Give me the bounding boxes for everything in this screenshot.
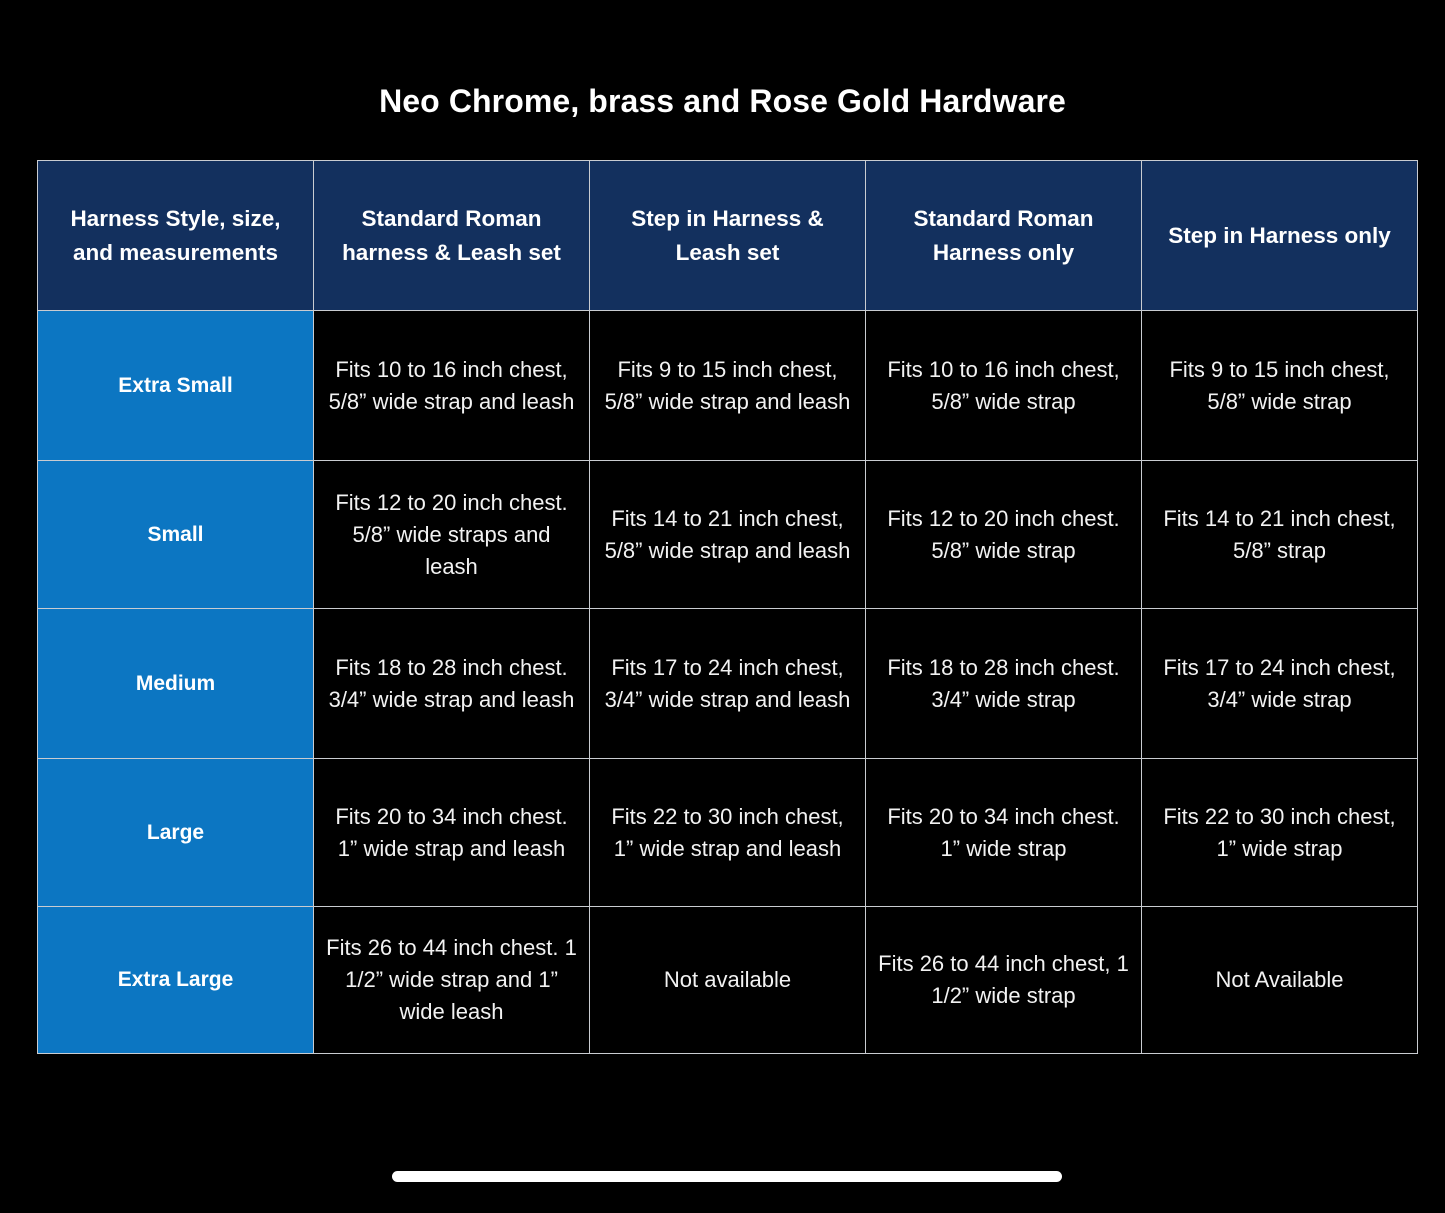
- cell-medium-stepin-set: Fits 17 to 24 inch chest, 3/4” wide stra…: [590, 609, 866, 759]
- cell-small-stepin-set: Fits 14 to 21 inch chest, 5/8” wide stra…: [590, 461, 866, 609]
- size-label-extra-large: Extra Large: [38, 907, 314, 1054]
- column-header-roman-only: Standard Roman Harness only: [866, 161, 1142, 311]
- cell-large-roman-only: Fits 20 to 34 inch chest. 1” wide strap: [866, 759, 1142, 907]
- cell-extra-large-stepin-set: Not available: [590, 907, 866, 1054]
- column-header-stepin-set: Step in Harness & Leash set: [590, 161, 866, 311]
- cell-large-roman-set: Fits 20 to 34 inch chest. 1” wide strap …: [314, 759, 590, 907]
- column-header-size: Harness Style, size, and measurements: [38, 161, 314, 311]
- cell-extra-large-stepin-only: Not Available: [1142, 907, 1418, 1054]
- cell-extra-small-stepin-only: Fits 9 to 15 inch chest, 5/8” wide strap: [1142, 311, 1418, 461]
- cell-extra-small-stepin-set: Fits 9 to 15 inch chest, 5/8” wide strap…: [590, 311, 866, 461]
- cell-extra-small-roman-set: Fits 10 to 16 inch chest, 5/8” wide stra…: [314, 311, 590, 461]
- cell-small-stepin-only: Fits 14 to 21 inch chest, 5/8” strap: [1142, 461, 1418, 609]
- table-row: Small Fits 12 to 20 inch chest. 5/8” wid…: [38, 461, 1418, 609]
- cell-extra-large-roman-only: Fits 26 to 44 inch chest, 1 1/2” wide st…: [866, 907, 1142, 1054]
- cell-extra-large-roman-set: Fits 26 to 44 inch chest. 1 1/2” wide st…: [314, 907, 590, 1054]
- size-label-extra-small: Extra Small: [38, 311, 314, 461]
- cell-medium-roman-only: Fits 18 to 28 inch chest. 3/4” wide stra…: [866, 609, 1142, 759]
- table-row: Large Fits 20 to 34 inch chest. 1” wide …: [38, 759, 1418, 907]
- size-label-medium: Medium: [38, 609, 314, 759]
- cell-extra-small-roman-only: Fits 10 to 16 inch chest, 5/8” wide stra…: [866, 311, 1142, 461]
- table-row: Extra Large Fits 26 to 44 inch chest. 1 …: [38, 907, 1418, 1054]
- cell-large-stepin-set: Fits 22 to 30 inch chest, 1” wide strap …: [590, 759, 866, 907]
- screen: Neo Chrome, brass and Rose Gold Hardware…: [0, 0, 1445, 1213]
- table-header-row: Harness Style, size, and measurements St…: [38, 161, 1418, 311]
- table-row: Extra Small Fits 10 to 16 inch chest, 5/…: [38, 311, 1418, 461]
- cell-medium-roman-set: Fits 18 to 28 inch chest. 3/4” wide stra…: [314, 609, 590, 759]
- cell-large-stepin-only: Fits 22 to 30 inch chest, 1” wide strap: [1142, 759, 1418, 907]
- page-title: Neo Chrome, brass and Rose Gold Hardware: [0, 79, 1445, 123]
- size-label-large: Large: [38, 759, 314, 907]
- table-header: Harness Style, size, and measurements St…: [38, 161, 1418, 311]
- cell-small-roman-set: Fits 12 to 20 inch chest. 5/8” wide stra…: [314, 461, 590, 609]
- cell-small-roman-only: Fits 12 to 20 inch chest. 5/8” wide stra…: [866, 461, 1142, 609]
- table-body: Extra Small Fits 10 to 16 inch chest, 5/…: [38, 311, 1418, 1054]
- cell-medium-stepin-only: Fits 17 to 24 inch chest, 3/4” wide stra…: [1142, 609, 1418, 759]
- table-row: Medium Fits 18 to 28 inch chest. 3/4” wi…: [38, 609, 1418, 759]
- column-header-roman-set: Standard Roman harness & Leash set: [314, 161, 590, 311]
- column-header-stepin-only: Step in Harness only: [1142, 161, 1418, 311]
- home-indicator[interactable]: [392, 1171, 1062, 1182]
- harness-size-table: Harness Style, size, and measurements St…: [37, 160, 1418, 1054]
- size-label-small: Small: [38, 461, 314, 609]
